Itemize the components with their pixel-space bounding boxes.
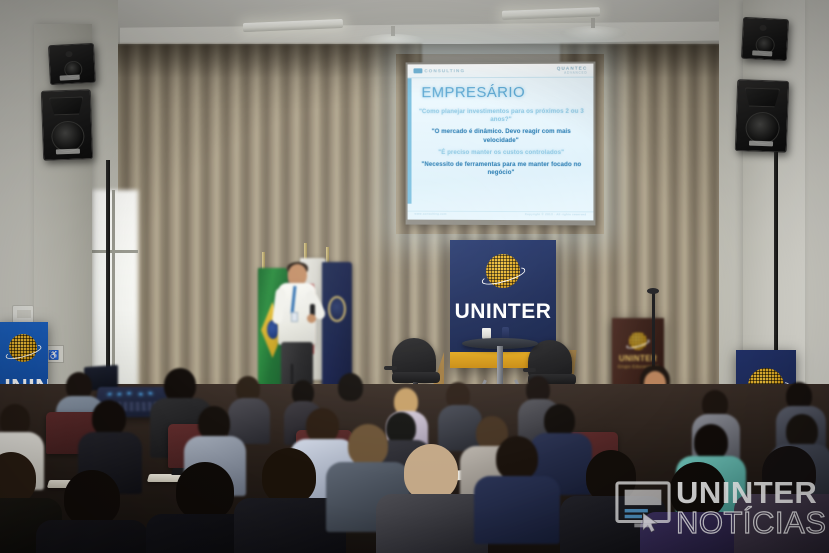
slide-quote-list: "Como planejar investimentos para os pró…: [417, 108, 585, 181]
window: [92, 190, 138, 390]
window-mullion: [92, 250, 138, 253]
projection-screen: CONSULTING QUANTEC ADVANCED EMPRESÁRIO "…: [406, 62, 596, 226]
wall-speaker-icon: [48, 43, 96, 85]
presentation-slide: CONSULTING QUANTEC ADVANCED EMPRESÁRIO "…: [408, 64, 594, 221]
speaker-pole: [106, 160, 110, 380]
slide-quote: "Como planejar investimentos para os pró…: [417, 108, 585, 125]
wall-speaker-icon: [41, 89, 93, 161]
slide-footer-left: www.consulting.com: [414, 212, 446, 216]
navy-crest-flag: [322, 262, 352, 388]
globe-logo-icon: [629, 332, 649, 352]
slide-accent-bar: [408, 78, 412, 203]
slide-brand-right-sub: ADVANCED: [557, 71, 588, 75]
slide-quote: "O mercado é dinâmico. Devo reagir com m…: [417, 128, 585, 145]
slide-footer-right: Copyright © 2013 · All rights reserved: [525, 212, 587, 216]
slide-brand-right: QUANTEC ADVANCED: [557, 66, 588, 75]
brand-mark-icon: [413, 68, 422, 73]
slide-title: EMPRESÁRIO: [421, 84, 525, 101]
auditorium-photo: ♿ CONSULTING QUANTEC ADVANCED: [0, 0, 829, 553]
window-mullion: [112, 190, 115, 390]
slide-header: CONSULTING QUANTEC ADVANCED: [408, 64, 594, 79]
slide-quote: "Necessito de ferramentas para me manter…: [417, 160, 585, 177]
slide-footer: www.consulting.com Copyright © 2013 · Al…: [408, 211, 594, 217]
banner-wordmark: UNINTER: [450, 300, 556, 324]
lectern-wordmark: UNINTER: [612, 354, 664, 363]
wall-speaker-icon: [735, 79, 789, 153]
speaker-pole: [774, 152, 778, 382]
globe-logo-icon: [9, 334, 39, 364]
ceiling-fan-icon: [560, 26, 626, 41]
slide-brand-left: CONSULTING: [413, 68, 465, 73]
wall-speaker-icon: [741, 17, 789, 61]
slide-brand-left-label: CONSULTING: [424, 68, 465, 73]
globe-logo-icon: [483, 254, 523, 294]
slide-quote: "É preciso manter os custos controlados": [417, 149, 585, 157]
